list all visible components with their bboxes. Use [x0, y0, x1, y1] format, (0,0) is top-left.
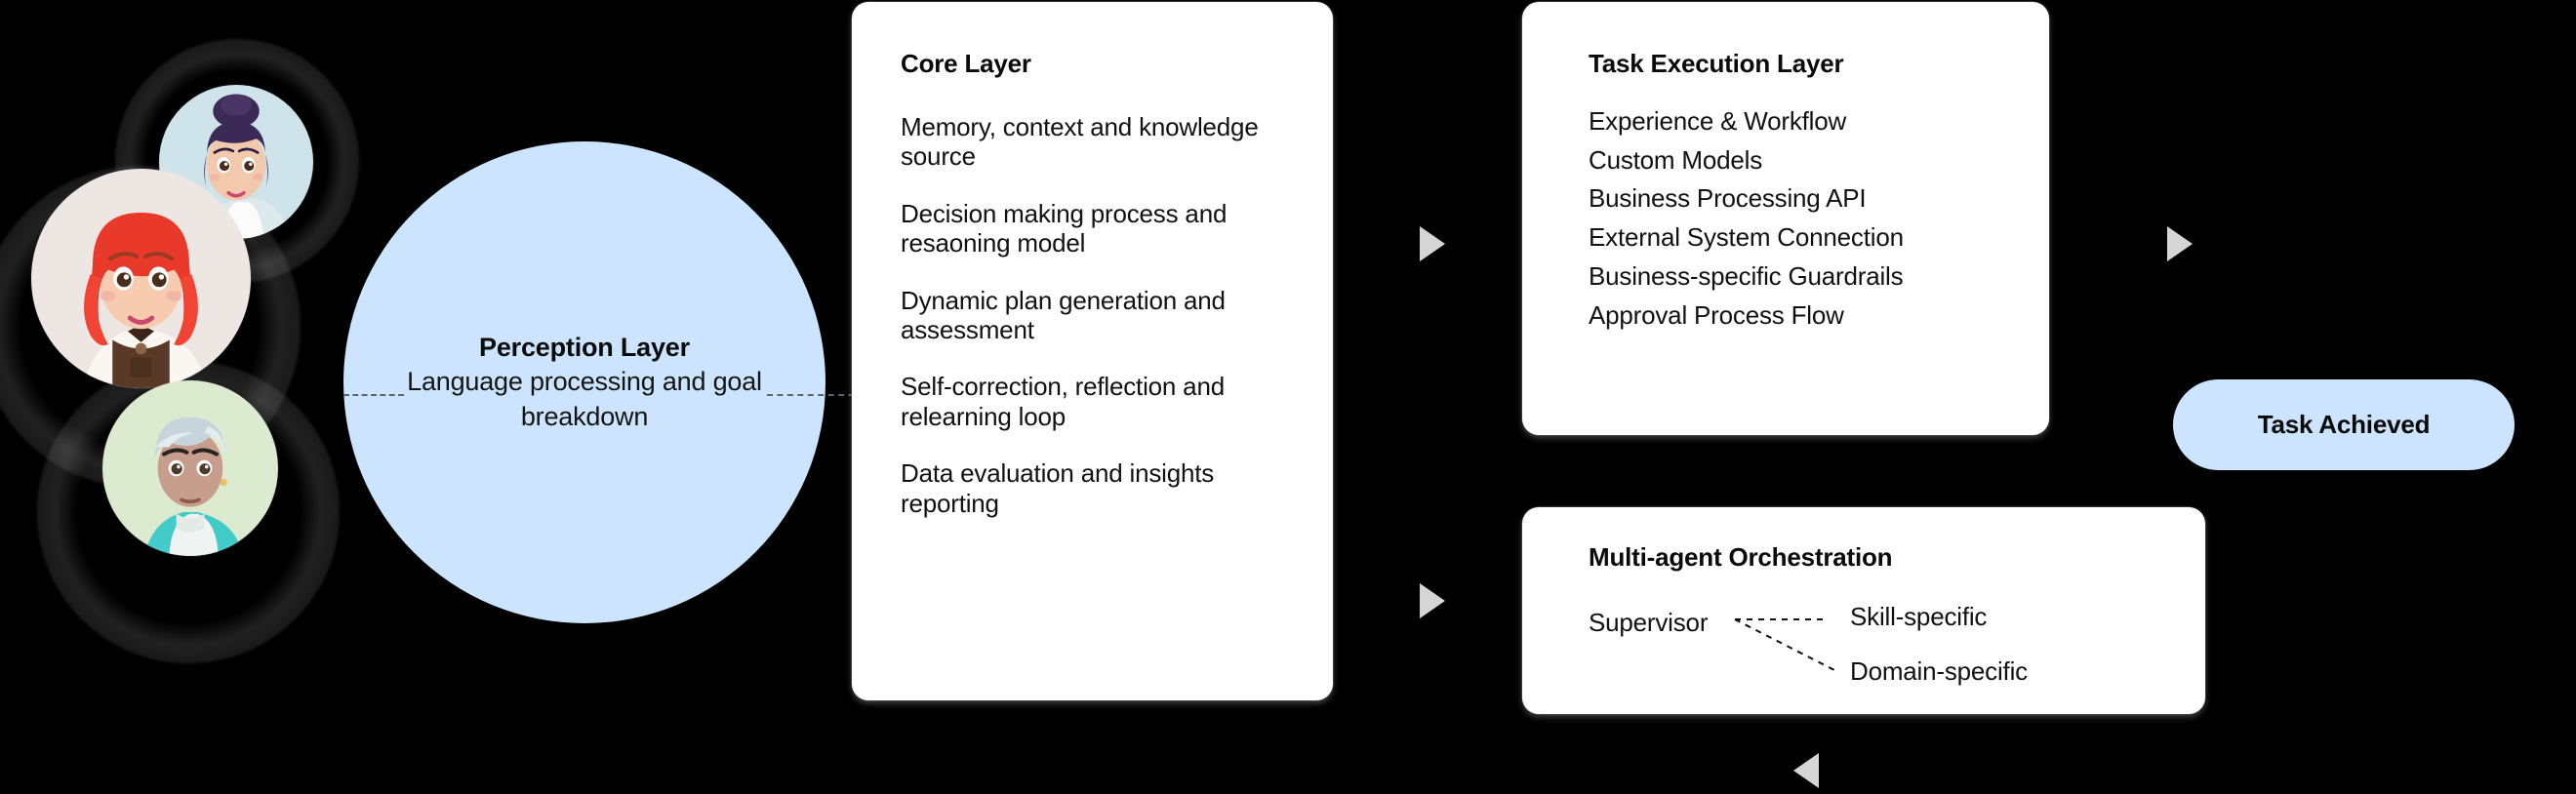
arrow-core-to-task-execution-icon [1420, 226, 1445, 261]
orchestration-title: Multi-agent Orchestration [1589, 542, 2205, 573]
task-execution-item: Custom Models [1589, 145, 2020, 177]
arrow-core-to-orchestration-icon [1420, 583, 1445, 618]
orchestration-branch-skill-specific: Skill-specific [1850, 602, 1987, 632]
agent-avatar-cluster [0, 68, 390, 751]
task-execution-item: Business-specific Guardrails [1589, 261, 2020, 293]
task-execution-item: Experience & Workflow [1589, 106, 2020, 138]
core-layer-item: Data evaluation and insights reporting [901, 458, 1288, 518]
core-layer-card[interactable]: Core Layer Memory, context and knowledge… [852, 2, 1333, 700]
arrow-task-execution-to-outcome-icon [2167, 226, 2193, 261]
dashed-connector-left [343, 394, 404, 396]
perception-layer-description: Language processing and goal breakdown [394, 364, 775, 434]
multi-agent-orchestration-card[interactable]: Multi-agent Orchestration Supervisor Ski… [1522, 507, 2205, 714]
core-layer-item: Memory, context and knowledge source [901, 112, 1288, 172]
dashed-connector-right [767, 394, 865, 396]
core-layer-item: Self-correction, reflection and relearni… [901, 372, 1288, 431]
avatar-red-hair-barista [31, 169, 251, 388]
task-achieved-label: Task Achieved [2258, 410, 2431, 440]
task-execution-item: Approval Process Flow [1589, 300, 2020, 332]
diagram-canvas: Perception Layer Language processing and… [0, 0, 2576, 794]
avatar-silver-hair-designer [102, 380, 278, 556]
task-execution-item: External System Connection [1589, 222, 2020, 254]
perception-layer-node[interactable]: Perception Layer Language processing and… [343, 141, 825, 623]
task-execution-item: Business Processing API [1589, 183, 2020, 215]
core-layer-title: Core Layer [901, 49, 1288, 79]
core-layer-item: Dynamic plan generation and assessment [901, 286, 1288, 345]
arrow-feedback-loop-icon [1793, 753, 1819, 788]
core-layer-item: Decision making process and resaoning mo… [901, 199, 1288, 258]
perception-layer-title: Perception Layer [479, 331, 690, 365]
orchestration-body: Supervisor Skill-specific Domain-specifi… [1589, 602, 2205, 709]
orchestration-branch-domain-specific: Domain-specific [1850, 656, 2028, 687]
orchestration-supervisor-label: Supervisor [1589, 608, 1708, 638]
task-execution-layer-title: Task Execution Layer [1589, 49, 2020, 79]
task-achieved-badge[interactable]: Task Achieved [2173, 379, 2515, 470]
task-execution-layer-card[interactable]: Task Execution Layer Experience & Workfl… [1522, 2, 2049, 435]
